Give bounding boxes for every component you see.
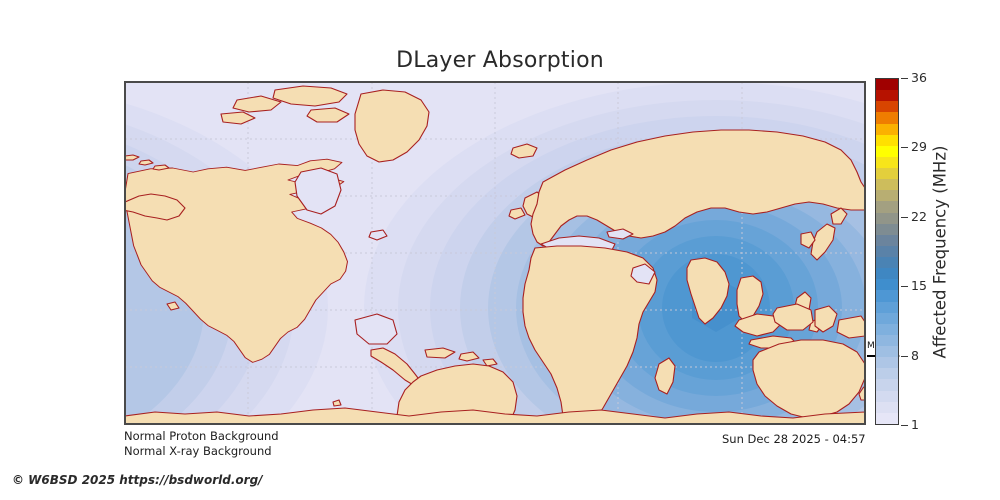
- colorbar-band: [876, 312, 898, 324]
- copyright-notice: © W6BSD 2025 https://bsdworld.org/: [12, 473, 263, 487]
- colorbar-band: [876, 189, 898, 201]
- colorbar-axis-label: Affected Frequency (MHz): [928, 78, 952, 425]
- colorbar-band: [876, 267, 898, 279]
- colorbar-tick-mark: [901, 286, 908, 287]
- colorbar-band: [876, 211, 898, 223]
- colorbar-tick-mark: [901, 78, 908, 79]
- colorbar-band: [876, 334, 898, 346]
- colorbar-band: [876, 389, 898, 401]
- colorbar-band: [876, 245, 898, 257]
- colorbar-band: [876, 412, 898, 424]
- colorbar-band: [876, 89, 898, 101]
- colorbar-band: [876, 401, 898, 413]
- colorbar-band: [876, 133, 898, 145]
- colorbar-band: [876, 234, 898, 246]
- colorbar-band: [876, 345, 898, 357]
- colorbar-band: [876, 289, 898, 301]
- world-map: [125, 82, 865, 424]
- colorbar-band: [876, 111, 898, 123]
- colorbar-tick-mark: [901, 425, 908, 426]
- colorbar-band: [876, 367, 898, 379]
- colorbar-tick-label: 15: [911, 280, 927, 293]
- status-annotations: Normal Proton Background Normal X-ray Ba…: [124, 429, 279, 459]
- colorbar-tick-label: 8: [911, 349, 919, 362]
- colorbar-band: [876, 256, 898, 268]
- timestamp: Sun Dec 28 2025 - 04:57: [722, 432, 866, 446]
- colorbar[interactable]: [875, 78, 899, 425]
- colorbar-band: [876, 200, 898, 212]
- colorbar-band: [876, 178, 898, 190]
- figure-canvas: DLayer Absorption: [0, 0, 1000, 500]
- colorbar-gradient: [876, 79, 898, 424]
- colorbar-tick-label: 36: [911, 72, 927, 85]
- colorbar-band: [876, 323, 898, 335]
- colorbar-tick-mark: [901, 356, 908, 357]
- xray-status: Normal X-ray Background: [124, 444, 279, 459]
- colorbar-tick-label: 1: [911, 419, 919, 432]
- colorbar-band: [876, 145, 898, 157]
- colorbar-band: [876, 167, 898, 179]
- colorbar-band: [876, 122, 898, 134]
- proton-status: Normal Proton Background: [124, 429, 279, 444]
- colorbar-band: [876, 156, 898, 168]
- map-plot-area[interactable]: [124, 81, 866, 425]
- colorbar-tick-label: 29: [911, 141, 927, 154]
- colorbar-band: [876, 78, 898, 90]
- colorbar-tick-mark: [901, 217, 908, 218]
- colorbar-band: [876, 300, 898, 312]
- colorbar-tick-label: 22: [911, 211, 927, 224]
- page-title: DLayer Absorption: [0, 48, 1000, 73]
- colorbar-tick-mark: [901, 147, 908, 148]
- colorbar-band: [876, 278, 898, 290]
- colorbar-band: [876, 222, 898, 234]
- colorbar-band: [876, 356, 898, 368]
- colorbar-band: [876, 100, 898, 112]
- colorbar-band: [876, 378, 898, 390]
